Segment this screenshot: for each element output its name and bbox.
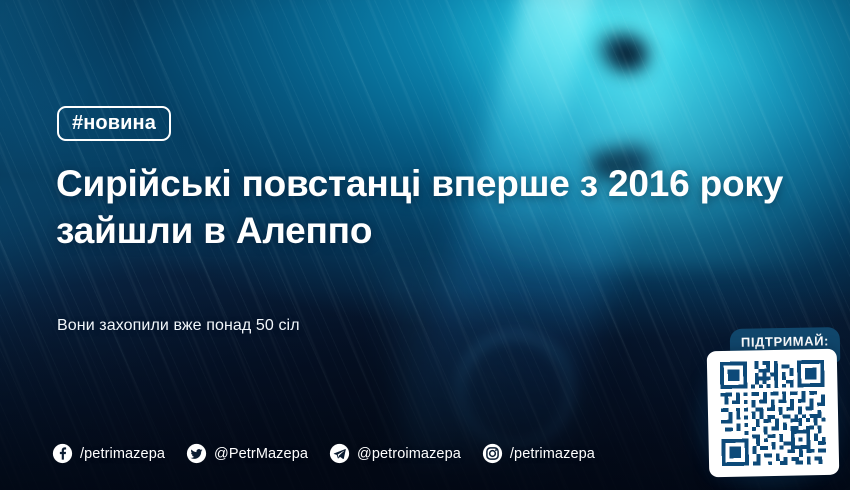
qr-code[interactable] — [707, 349, 840, 478]
social-item-instagram[interactable]: /petrimazepa — [482, 443, 595, 464]
support-block: ПІДТРИМАЙ: — [696, 328, 846, 488]
social-handle: @petroimazepa — [357, 446, 461, 462]
social-item-twitter[interactable]: @PetrMazepa — [186, 443, 308, 464]
social-item-telegram[interactable]: @petroimazepa — [329, 443, 461, 464]
subtitle: Вони захопили вже понад 50 сіл — [57, 316, 300, 335]
telegram-icon — [329, 443, 350, 464]
twitter-icon — [186, 443, 207, 464]
category-badge: #новина — [57, 106, 171, 141]
facebook-icon — [52, 443, 73, 464]
news-card: #новина Сирійські повстанці вперше з 201… — [0, 0, 850, 490]
instagram-icon — [482, 443, 503, 464]
social-handle: /petrimazepa — [510, 446, 595, 462]
social-handle: @PetrMazepa — [214, 446, 308, 462]
page-title: Сирійські повстанці вперше з 2016 року з… — [56, 160, 816, 255]
social-bar: /petrimazepa @PetrMazepa — [52, 443, 595, 464]
social-item-facebook[interactable]: /petrimazepa — [52, 443, 165, 464]
social-handle: /petrimazepa — [80, 446, 165, 462]
